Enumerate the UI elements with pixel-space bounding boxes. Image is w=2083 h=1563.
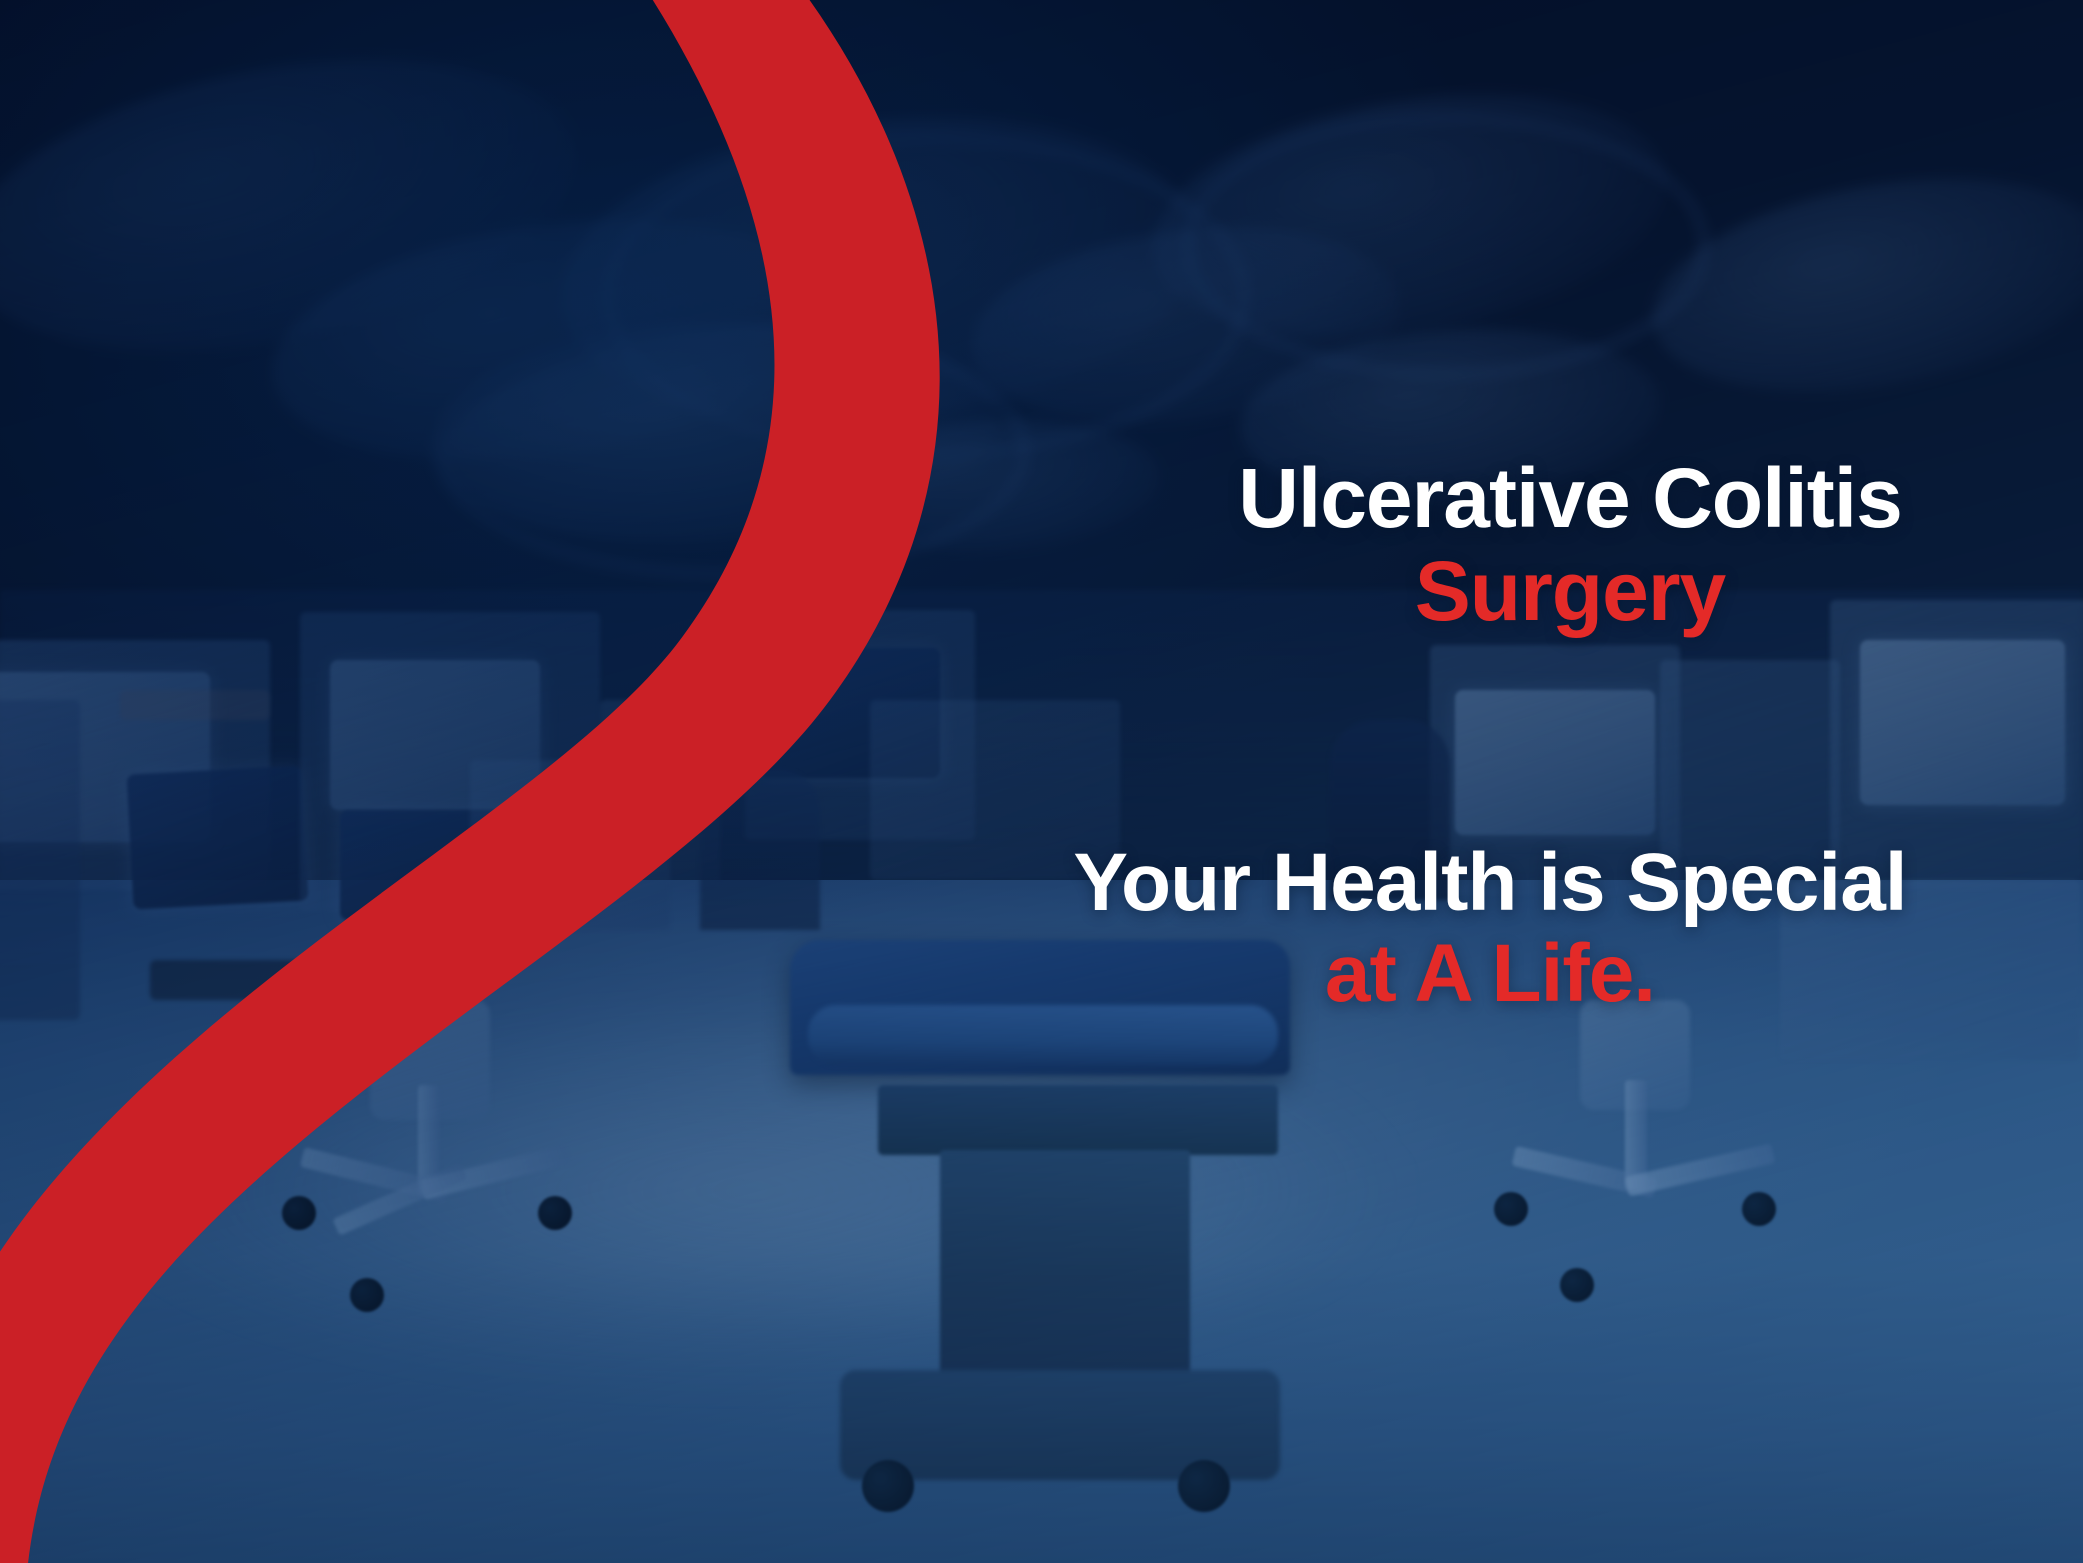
tagline-line-1: Your Health is Special	[930, 840, 2050, 925]
tagline-line-2: at A Life.	[930, 931, 2050, 1016]
headline-line-1: Ulcerative Colitis	[1090, 455, 2050, 542]
headline-line-2: Surgery	[1090, 548, 2050, 635]
tagline-block: Your Health is Special at A Life.	[930, 840, 2050, 1017]
promo-banner: Ulcerative Colitis Surgery Your Health i…	[0, 0, 2083, 1563]
vignette-overlay	[0, 0, 2083, 1563]
headline-block: Ulcerative Colitis Surgery	[1090, 455, 2050, 636]
